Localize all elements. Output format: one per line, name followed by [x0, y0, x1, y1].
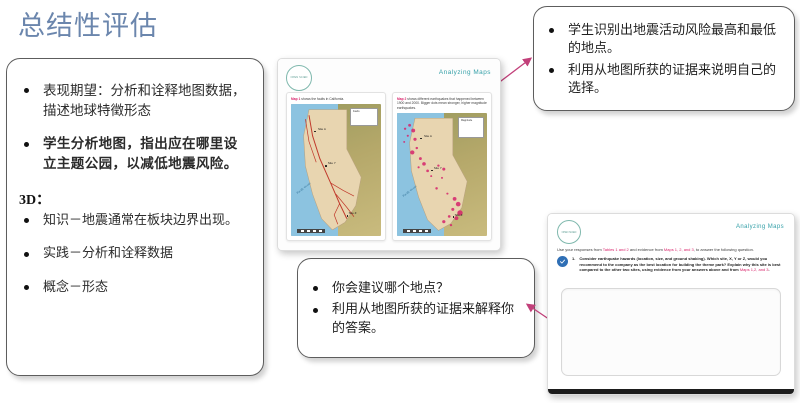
worksheet-instructions: Use your responses from Tables 1 and 2 a…: [557, 247, 785, 253]
worksheet-header: Analyzing Maps: [736, 224, 784, 230]
list-item: 学生识别出地震活动风险最高和最低的地点。: [542, 21, 778, 58]
map-2-legend-title: Magnitude: [461, 119, 483, 122]
list-item: 表现期望：分析和诠释地图数据，描述地球特徵形态: [17, 81, 249, 120]
openscied-logo-icon: OPEN SCIED: [286, 65, 312, 91]
student-outcome-callout: 学生识别出地震活动风险最高和最低的地点。 利用从地图所获的证据来说明自己的选择。: [533, 6, 795, 111]
slide-canvas: 总结性评估 表现期望：分析和诠释地图数据，描述地球特徵形态 学生分析地图，指出应…: [0, 0, 800, 403]
intro-before: Use your responses from: [557, 247, 603, 252]
site-label-y: Site Y: [434, 166, 442, 170]
three-dimensions-list: 知识－地震通常在板块边界出现。 实践－分析和诠释数据 概念－形态: [17, 211, 249, 296]
map-1-caption-text: shows the faults in California.: [301, 97, 344, 101]
list-item: 你会建议哪个地点？: [306, 279, 522, 297]
three-dimensions-label: 3D：: [19, 189, 249, 209]
answer-textarea[interactable]: [561, 288, 781, 376]
intro-tables: Tables 1 and 2: [603, 247, 629, 252]
map-2-caption-text: shows different earthquakes that happene…: [397, 97, 487, 110]
question-list: 你会建议哪个地点？ 利用从地图所获的证据来解释你的答案。: [306, 279, 522, 337]
map-1-caption-lead: Map 1: [291, 97, 300, 101]
student-outcome-content: 学生识别出地震活动风险最高和最低的地点。 利用从地图所获的证据来说明自己的选择。: [534, 7, 794, 111]
list-item-practice: 实践－分析和诠释数据: [17, 244, 249, 262]
site-marker: [325, 165, 327, 167]
worksheet-body: OPEN SCIED Analyzing Maps Use your respo…: [548, 214, 794, 394]
site-label-a: Site A: [424, 134, 432, 138]
site-label-y: Site Y: [328, 161, 336, 165]
outcome-list: 学生识别出地震活动风险最高和最低的地点。 利用从地图所获的证据来说明自己的选择。: [542, 21, 778, 98]
map-1-caption: Map 1 shows the faults in California.: [291, 97, 381, 101]
analyzing-maps-worksheet[interactable]: OPEN SCIED Analyzing Maps Use your respo…: [547, 213, 795, 395]
map-card-container: Map 1 shows the faults in California.: [286, 92, 492, 241]
question-callout: 你会建议哪个地点？ 利用从地图所获的证据来解释你的答案。: [297, 258, 535, 358]
intro-maps: Maps 1, 2, and 3: [664, 247, 694, 252]
map-2-image: Magnitude Site A Site Y Site Z Pacific O…: [397, 113, 487, 236]
list-item-concept: 概念－形态: [17, 278, 249, 296]
map-card-1[interactable]: Map 1 shows the faults in California.: [286, 92, 386, 241]
site-label-a: Site A: [318, 127, 326, 131]
openscied-logo-icon: OPEN SCIED: [557, 220, 581, 244]
worksheet-footer-bar: [548, 389, 794, 394]
map-card-2[interactable]: Map 2 shows different earthquakes that h…: [392, 92, 492, 241]
intro-mid: and evidence from: [629, 247, 664, 252]
list-item-knowledge: 知识－地震通常在板块边界出现。: [17, 211, 249, 229]
map-1-image: Faults Site A Site Y Site Z Pacific Ocea…: [291, 104, 381, 236]
map-scale-bar: [297, 229, 325, 233]
site-label-z: Site Z: [349, 211, 357, 215]
list-item: 利用从地图所获的证据来解释你的答案。: [306, 300, 522, 337]
question-text: Consider earthquake hazards (location, s…: [579, 256, 785, 273]
question-callout-content: 你会建议哪个地点？ 利用从地图所获的证据来解释你的答案。: [298, 259, 534, 350]
expectation-list: 表现期望：分析和诠释地图数据，描述地球特徵形态 学生分析地图，指出应在哪里设立主…: [17, 81, 249, 173]
list-item: 利用从地图所获的证据来说明自己的选择。: [542, 61, 778, 98]
map-2-caption: Map 2 shows different earthquakes that h…: [397, 97, 487, 110]
map-1-legend: Faults: [350, 108, 378, 126]
analyzing-maps-screenshot[interactable]: OPEN SCIED Analyzing Maps Map 1 shows th…: [277, 58, 501, 251]
question-tail: .: [769, 267, 770, 272]
map-1-legend-title: Faults: [353, 110, 377, 113]
summative-assessment-box: 表现期望：分析和诠释地图数据，描述地球特徵形态 学生分析地图，指出应在哪里设立主…: [6, 58, 264, 376]
intro-after: , to answer the following question.: [694, 247, 754, 252]
list-item: 学生分析地图，指出应在哪里设立主题公园，以减低地震风险。: [17, 134, 249, 173]
worksheet-question-row: 1. Consider earthquake hazards (location…: [557, 256, 785, 273]
map-2-legend: Magnitude: [458, 117, 484, 138]
summative-assessment-content: 表现期望：分析和诠释地图数据，描述地球特徵形态 学生分析地图，指出应在哪里设立主…: [7, 59, 263, 321]
checkmark-icon: [557, 256, 568, 267]
site-label-z: Site Z: [455, 213, 463, 217]
maps-page-header: Analyzing Maps: [439, 69, 491, 76]
question-maps-ref: Maps 1,2, and 3: [740, 267, 769, 272]
maps-page-body: OPEN SCIED Analyzing Maps Map 1 shows th…: [278, 59, 500, 250]
page-title: 总结性评估: [18, 12, 158, 42]
question-number: 1.: [572, 256, 575, 273]
map-2-caption-lead: Map 2: [397, 97, 406, 101]
map-scale-bar: [403, 229, 431, 233]
